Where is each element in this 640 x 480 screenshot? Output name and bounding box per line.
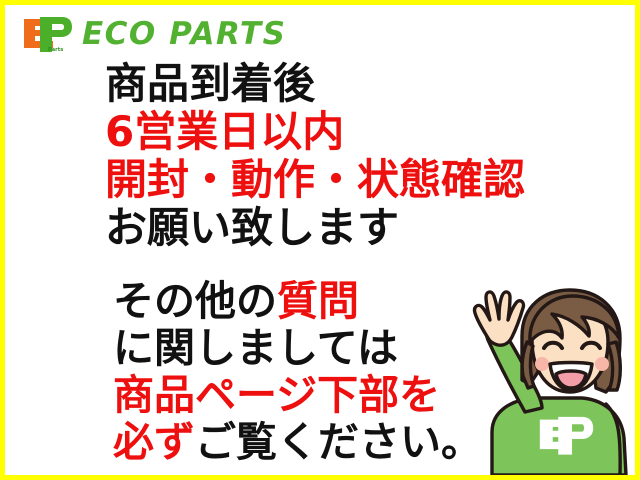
- ep-monogram-icon: Eco Parts: [18, 14, 74, 54]
- banner-border-right: [635, 0, 640, 480]
- brand-wordmark: ECO PARTS: [82, 19, 286, 50]
- notice-line: 商品到着後: [105, 60, 575, 108]
- notice-segment: 必ず: [113, 418, 195, 466]
- eco-parts-notice-banner: Eco Parts ECO PARTS 商品到着後 6営業日以内 開封・動作・状…: [0, 0, 640, 480]
- banner-border-bottom: [0, 475, 640, 480]
- copy-spacer: [105, 252, 575, 278]
- notice-line: 開封・動作・状態確認: [105, 156, 575, 204]
- waving-woman-mascot-icon: [430, 280, 635, 475]
- notice-line: 6営業日以内: [105, 108, 575, 156]
- notice-segment: その他の: [113, 277, 277, 325]
- banner-border-top: [0, 0, 640, 5]
- svg-text:Parts: Parts: [48, 47, 63, 53]
- notice-line: お願い致します: [105, 204, 575, 252]
- notice-segment: 質問: [277, 277, 359, 325]
- notice-segment: に関しましては: [113, 324, 398, 372]
- svg-text:Eco: Eco: [25, 42, 36, 48]
- notice-block-arrival: 商品到着後 6営業日以内 開封・動作・状態確認 お願い致します: [105, 60, 575, 252]
- notice-segment: 商品ページ下部を: [113, 371, 440, 419]
- banner-border-left: [0, 0, 5, 480]
- brand-lockup: Eco Parts ECO PARTS: [18, 13, 286, 55]
